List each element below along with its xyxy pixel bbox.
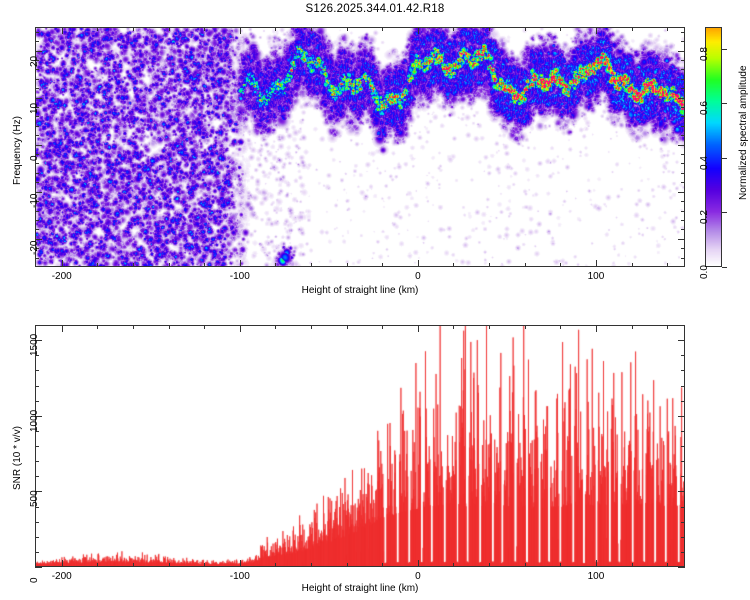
axis-tick [453,563,454,567]
axis-tick [62,260,63,267]
axis-tick [678,51,685,52]
axis-tick [632,263,633,267]
axis-tick [35,401,39,402]
axis-tick [525,325,526,329]
axis-tick [311,263,312,267]
axis-tick [35,211,39,212]
x-tick-label: 0 [404,271,432,282]
axis-tick [681,258,685,259]
axis-tick [97,325,98,329]
axis-tick [347,27,348,31]
axis-tick [97,563,98,567]
axis-tick [681,461,685,462]
axis-tick [596,27,597,34]
axis-tick [560,27,561,31]
axis-tick [681,476,685,477]
axis-tick [347,563,348,567]
axis-tick [681,88,685,89]
snr-trace [36,326,684,566]
axis-tick [681,370,685,371]
axis-tick [678,416,685,417]
axis-tick [678,491,685,492]
axis-tick [525,563,526,567]
axis-tick [275,263,276,267]
colorbar-tick [722,212,727,213]
axis-tick [681,401,685,402]
axis-tick [133,27,134,31]
axis-tick [35,552,39,553]
spectrogram-x-axis-label: Height of straight line (km) [210,285,510,296]
axis-tick [681,107,685,108]
axis-tick [35,446,39,447]
axis-tick [489,27,490,31]
axis-tick [681,355,685,356]
axis-tick [204,263,205,267]
axis-tick [489,325,490,329]
axis-tick [35,163,39,164]
axis-tick [169,563,170,567]
axis-tick [169,27,170,31]
axis-tick [667,325,668,329]
axis-tick [35,126,39,127]
axis-tick [681,507,685,508]
axis-tick [204,563,205,567]
y-tick-label: 0 [29,577,40,583]
x-tick-label: 100 [582,571,610,582]
figure-title: S126.2025.344.01.42.R18 [0,3,750,15]
axis-tick [596,560,597,567]
colorbar-tick-label: 0.0 [699,265,710,279]
axis-tick [275,325,276,329]
axis-tick [596,325,597,332]
axis-tick [35,258,39,259]
axis-tick [681,446,685,447]
snr-y-axis-label: SNR (10 * v/v) [12,426,23,490]
axis-tick [681,229,685,230]
axis-tick [275,27,276,31]
axis-tick [632,563,633,567]
x-tick-label: -200 [48,271,76,282]
axis-tick [681,201,685,202]
axis-tick [681,537,685,538]
axis-tick [681,248,685,249]
axis-tick [62,325,63,332]
axis-tick [35,69,39,70]
axis-tick [681,163,685,164]
axis-tick [418,27,419,34]
axis-tick [62,27,63,34]
spectrogram-y-axis-label: Frequency (Hz) [12,116,23,185]
axis-tick [681,182,685,183]
snr-panel [35,325,685,567]
axis-tick [382,263,383,267]
axis-tick [667,263,668,267]
axis-tick [35,229,39,230]
axis-tick [489,263,490,267]
y-tick-label: -20 [29,240,40,254]
axis-tick [35,32,39,33]
axis-tick [347,325,348,329]
axis-tick [97,263,98,267]
axis-tick [240,560,241,567]
colorbar-tick [722,158,727,159]
y-tick-label: 1500 [29,334,40,356]
axis-tick [489,563,490,567]
colorbar-tick [722,49,727,50]
axis-tick [681,60,685,61]
x-tick-label: -200 [48,571,76,582]
axis-tick [453,27,454,31]
axis-tick [169,263,170,267]
axis-tick [681,135,685,136]
axis-tick [35,476,39,477]
axis-tick [133,563,134,567]
axis-tick [632,325,633,329]
axis-tick [681,79,685,80]
axis-tick [35,522,39,523]
axis-tick [678,340,685,341]
y-tick-label: 10 [29,102,40,113]
axis-tick [169,325,170,329]
axis-tick [382,563,383,567]
axis-tick [311,563,312,567]
colorbar-tick [722,267,727,268]
axis-tick [133,325,134,329]
axis-tick [678,192,685,193]
axis-tick [681,211,685,212]
axis-tick [681,552,685,553]
axis-tick [62,560,63,567]
colorbar-tick-label: 0.2 [699,211,710,225]
axis-tick [347,263,348,267]
colorbar [705,27,722,267]
axis-tick [35,135,39,136]
axis-tick [681,154,685,155]
axis-tick [681,41,685,42]
axis-tick [681,173,685,174]
axis-tick [678,98,685,99]
y-tick-label: 1000 [29,410,40,432]
axis-tick [418,325,419,332]
x-tick-label: -100 [226,271,254,282]
axis-tick [204,27,205,31]
colorbar-gradient [706,28,721,266]
axis-tick [681,116,685,117]
axis-tick [35,182,39,183]
axis-tick [35,173,39,174]
axis-tick [97,27,98,31]
axis-tick [311,325,312,329]
axis-tick [240,27,241,34]
axis-tick [35,220,39,221]
colorbar-tick [722,103,727,104]
snr-x-axis-label: Height of straight line (km) [210,583,510,594]
colorbar-tick-label: 0.4 [699,156,710,170]
axis-tick [667,27,668,31]
axis-tick [453,325,454,329]
axis-tick [560,325,561,329]
axis-tick [240,325,241,332]
x-tick-label: 0 [404,571,432,582]
colorbar-tick-label: 0.6 [699,101,710,115]
axis-tick [35,79,39,80]
axis-tick [632,27,633,31]
axis-tick [681,522,685,523]
axis-tick [35,145,42,146]
axis-tick [681,126,685,127]
axis-tick [596,260,597,267]
colorbar-axis-label: Normalized spectral amplitude [738,65,749,200]
axis-tick [35,88,39,89]
x-tick-label: -100 [226,571,254,582]
y-tick-label: 0 [29,155,40,161]
axis-tick [681,220,685,221]
axis-tick [525,263,526,267]
y-tick-label: -10 [29,193,40,207]
axis-tick [681,32,685,33]
axis-tick [275,563,276,567]
axis-tick [418,260,419,267]
axis-tick [35,116,39,117]
axis-tick [35,537,39,538]
y-tick-label: 500 [29,491,40,508]
axis-tick [681,69,685,70]
axis-tick [35,386,39,387]
axis-tick [678,145,685,146]
axis-tick [35,192,42,193]
axis-tick [681,386,685,387]
axis-tick [560,263,561,267]
axis-tick [418,560,419,567]
axis-tick [382,325,383,329]
axis-tick [453,263,454,267]
spectrogram-panel [35,27,685,267]
axis-tick [204,325,205,329]
axis-tick [678,239,685,240]
axis-tick [240,260,241,267]
axis-tick [133,263,134,267]
axis-tick [560,563,561,567]
axis-tick [35,461,39,462]
spectrogram-image [36,28,684,266]
axis-tick [678,567,685,568]
axis-tick [525,27,526,31]
axis-tick [35,41,39,42]
y-tick-label: 20 [29,55,40,66]
axis-tick [35,370,39,371]
x-tick-label: 100 [582,271,610,282]
axis-tick [311,27,312,31]
figure-canvas: S126.2025.344.01.42.R18 -200-1000100 -20… [0,0,750,600]
axis-tick [35,98,42,99]
axis-tick [35,51,42,52]
axis-tick [382,27,383,31]
colorbar-tick-label: 0.8 [699,47,710,61]
axis-tick [681,431,685,432]
axis-tick [667,563,668,567]
axis-tick [35,567,42,568]
